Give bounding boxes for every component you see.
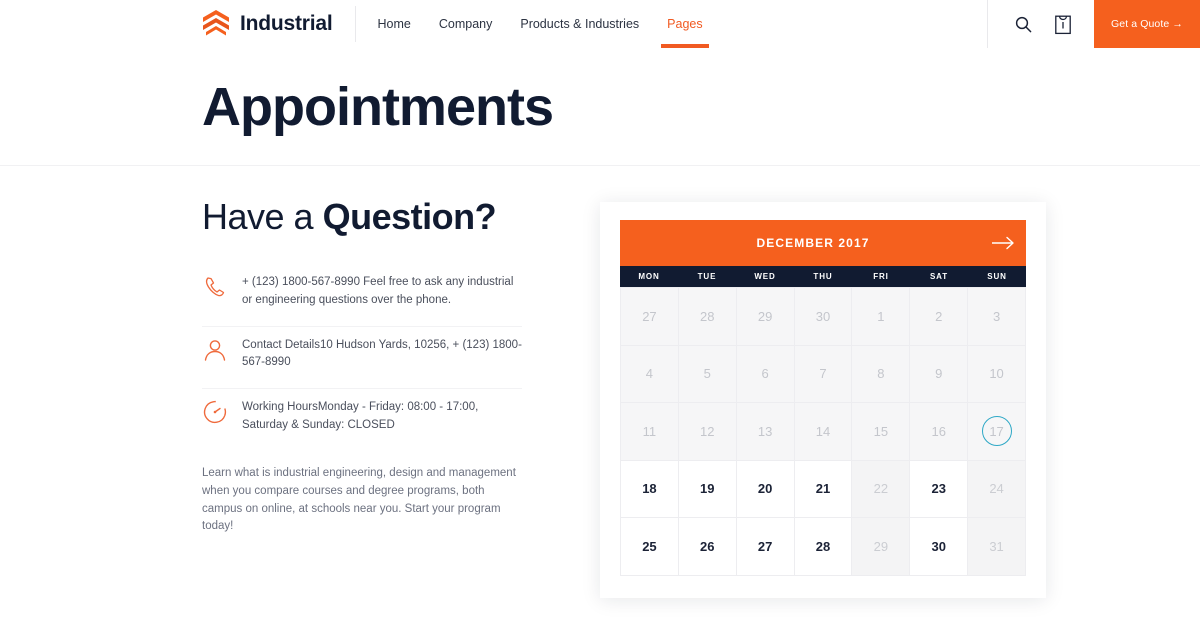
calendar-day-cell: 27 [621, 288, 679, 346]
section-title: Have a Question? [202, 196, 562, 238]
calendar-day-cell[interactable]: 26 [679, 518, 737, 576]
calendar-day-label: 29 [758, 309, 772, 324]
nav-label: Home [378, 17, 411, 31]
calendar-day-label: 3 [993, 309, 1000, 324]
calendar-day-cell: 8 [852, 346, 910, 404]
calendar-day-cell: 29 [737, 288, 795, 346]
calendar-header: DECEMBER 2017 [620, 220, 1026, 266]
nav-item-pages[interactable]: Pages [653, 0, 716, 48]
calendar-day-cell: 3 [968, 288, 1026, 346]
calendar-day-label: 27 [758, 539, 772, 554]
get-a-quote-label: Get a Quote → [1111, 18, 1183, 30]
calendar-column: DECEMBER 2017 MON TUE WED THU FRI SAT SU… [600, 196, 1046, 598]
calendar-day-label: 5 [704, 366, 711, 381]
calendar-day-cell: 16 [910, 403, 968, 461]
nav-item-products-industries[interactable]: Products & Industries [506, 0, 653, 48]
calendar-day-cell: 1 [852, 288, 910, 346]
calendar-day-cell: 11 [621, 403, 679, 461]
nav-label: Pages [667, 17, 702, 31]
calendar-grid: 2728293012345678910111213141516171819202… [620, 287, 1026, 576]
calendar-day-cell: 10 [968, 346, 1026, 404]
calendar-day-cell[interactable]: 28 [795, 518, 853, 576]
search-button[interactable] [1012, 11, 1034, 37]
calendar-day-label: 27 [642, 309, 656, 324]
user-icon-wrap [202, 337, 228, 363]
calendar-day-cell: 24 [968, 461, 1026, 519]
calendar-month-label: DECEMBER 2017 [620, 236, 980, 250]
day-name-sun: SUN [968, 266, 1026, 287]
calendar-day-label: 13 [758, 424, 772, 439]
calendar-day-cell: 13 [737, 403, 795, 461]
calendar-day-cell[interactable]: 21 [795, 461, 853, 519]
calendar-day-label: 24 [989, 481, 1003, 496]
cart-button[interactable] [1052, 11, 1074, 37]
calendar-day-label: 6 [762, 366, 769, 381]
calendar-day-label: 17 [989, 424, 1003, 439]
calendar-day-cell[interactable]: 23 [910, 461, 968, 519]
nav-label: Company [439, 17, 493, 31]
chevron-hexagon-logo-icon [202, 9, 230, 39]
calendar-day-label: 8 [877, 366, 884, 381]
contact-row-details: Contact Details10 Hudson Yards, 10256, +… [202, 327, 522, 390]
contact-column: Have a Question? + (123) 1800-567-8990 F… [202, 196, 562, 598]
main-content: Have a Question? + (123) 1800-567-8990 F… [0, 166, 1200, 598]
calendar-day-cell: 22 [852, 461, 910, 519]
day-name-fri: FRI [852, 266, 910, 287]
calendar-day-cell[interactable]: 30 [910, 518, 968, 576]
header-spacer [717, 0, 987, 48]
calendar-day-label: 4 [646, 366, 653, 381]
calendar-day-label: 23 [931, 481, 945, 496]
calendar-day-cell[interactable]: 20 [737, 461, 795, 519]
contact-text-phone: + (123) 1800-567-8990 Feel free to ask a… [242, 272, 522, 310]
contact-text-details: Contact Details10 Hudson Yards, 10256, +… [242, 335, 522, 373]
nav-label: Products & Industries [520, 17, 639, 31]
calendar-next-month-button[interactable] [980, 236, 1026, 250]
page-hero: Appointments [0, 48, 1200, 166]
speedometer-icon [203, 400, 227, 424]
calendar-day-cell: 15 [852, 403, 910, 461]
calendar-day-label: 31 [989, 539, 1003, 554]
search-icon [1015, 16, 1032, 33]
calendar-day-label: 14 [816, 424, 830, 439]
calendar-day-cell[interactable]: 18 [621, 461, 679, 519]
calendar-day-cell: 29 [852, 518, 910, 576]
day-name-mon: MON [620, 266, 678, 287]
phone-icon-wrap [202, 274, 228, 300]
day-name-tue: TUE [678, 266, 736, 287]
calendar-day-cell: 6 [737, 346, 795, 404]
calendar-day-cell: 4 [621, 346, 679, 404]
day-name-thu: THU [794, 266, 852, 287]
calendar-day-label: 29 [874, 539, 888, 554]
calendar-day-cell[interactable]: 19 [679, 461, 737, 519]
calendar-day-label: 25 [642, 539, 656, 554]
calendar-day-cell: 7 [795, 346, 853, 404]
day-name-wed: WED [736, 266, 794, 287]
calendar-day-label: 15 [874, 424, 888, 439]
calendar-day-label: 26 [700, 539, 714, 554]
calendar-day-label: 2 [935, 309, 942, 324]
calendar-day-label: 30 [816, 309, 830, 324]
calendar-day-label: 9 [935, 366, 942, 381]
main-nav: Home Company Products & Industries Pages [356, 0, 717, 48]
calendar-day-label: 22 [874, 481, 888, 496]
phone-icon [203, 275, 227, 299]
calendar-day-label: 18 [642, 481, 656, 496]
calendar-day-cell: 2 [910, 288, 968, 346]
contact-row-hours: Working HoursMonday - Friday: 08:00 - 17… [202, 389, 522, 451]
calendar-day-label: 11 [643, 424, 657, 439]
get-a-quote-button[interactable]: Get a Quote → [1094, 0, 1200, 48]
contact-row-phone: + (123) 1800-567-8990 Feel free to ask a… [202, 264, 522, 327]
calendar-day-label: 1 [877, 309, 884, 324]
nav-item-company[interactable]: Company [425, 0, 507, 48]
calendar-day-label: 16 [931, 424, 945, 439]
calendar-card: DECEMBER 2017 MON TUE WED THU FRI SAT SU… [600, 202, 1046, 598]
calendar-day-cell: 31 [968, 518, 1026, 576]
section-title-light: Have a [202, 196, 323, 237]
calendar-day-label: 28 [816, 539, 830, 554]
calendar-day-label: 19 [700, 481, 714, 496]
calendar-day-label: 21 [816, 481, 830, 496]
lead-paragraph: Learn what is industrial engineering, de… [202, 465, 527, 536]
user-icon [203, 338, 227, 362]
calendar-day-cell[interactable]: 25 [621, 518, 679, 576]
day-name-sat: SAT [910, 266, 968, 287]
calendar-day-cell: 17 [968, 403, 1026, 461]
calendar-day-cell: 14 [795, 403, 853, 461]
calendar-day-cell: 9 [910, 346, 968, 404]
calendar-day-cell[interactable]: 27 [737, 518, 795, 576]
shopping-bag-icon [1055, 13, 1071, 35]
calendar-day-names-row: MON TUE WED THU FRI SAT SUN [620, 266, 1026, 287]
calendar-day-cell: 30 [795, 288, 853, 346]
calendar-day-label: 12 [700, 424, 714, 439]
arrow-right-icon [991, 236, 1015, 250]
calendar-day-label: 10 [989, 366, 1003, 381]
calendar-day-label: 7 [819, 366, 826, 381]
header-tools [987, 0, 1094, 48]
calendar-day-label: 20 [758, 481, 772, 496]
brand-logo[interactable]: Industrial [0, 0, 355, 48]
site-header: Industrial Home Company Products & Indus… [0, 0, 1200, 48]
page-title: Appointments [202, 80, 553, 134]
brand-name: Industrial [240, 12, 333, 36]
section-title-bold: Question? [323, 196, 497, 237]
calendar-day-label: 28 [700, 309, 714, 324]
calendar-day-cell: 12 [679, 403, 737, 461]
contact-text-hours: Working HoursMonday - Friday: 08:00 - 17… [242, 397, 522, 435]
nav-item-home[interactable]: Home [356, 0, 425, 48]
calendar-day-cell: 28 [679, 288, 737, 346]
calendar-day-cell: 5 [679, 346, 737, 404]
speedometer-icon-wrap [202, 399, 228, 425]
calendar-day-label: 30 [931, 539, 945, 554]
